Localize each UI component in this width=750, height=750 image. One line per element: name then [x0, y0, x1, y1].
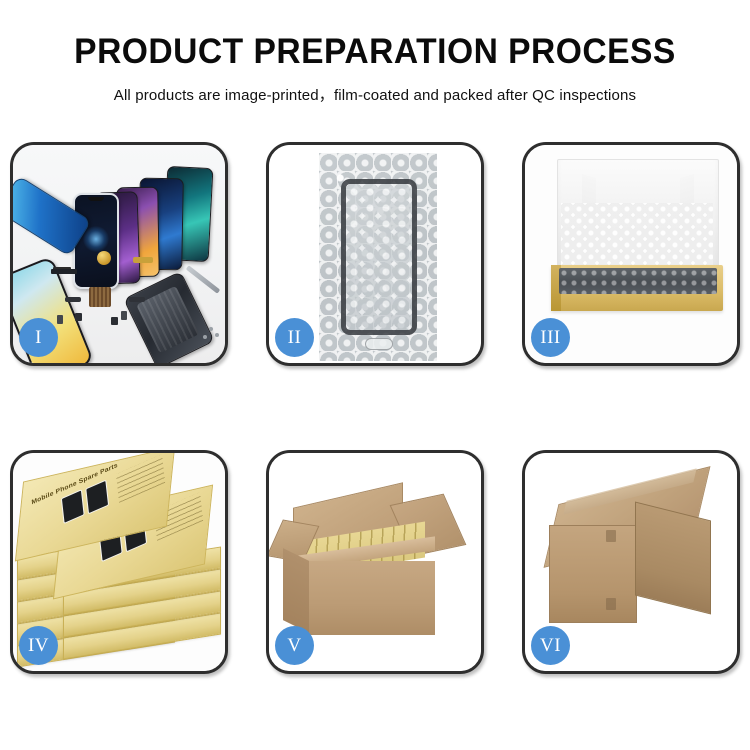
- process-step-3: III: [522, 142, 740, 366]
- process-step-5: V: [266, 450, 484, 674]
- bubble-wrap-sheet: [319, 153, 437, 361]
- part-flex-cable-3-icon: [65, 297, 81, 302]
- packed-screen-product: [559, 268, 717, 294]
- process-step-4: Mobile Phone Spare Parts Mobile Phone Sp…: [10, 450, 228, 674]
- header: PRODUCT PREPARATION PROCESS All products…: [0, 0, 750, 105]
- process-step-6: VI: [522, 450, 740, 674]
- process-step-2: II: [266, 142, 484, 366]
- home-button-icon: [365, 338, 393, 350]
- phone-glass-front-icon: [73, 193, 119, 289]
- yellow-box-tray: [551, 265, 723, 311]
- step-1-badge: I: [19, 318, 58, 357]
- box-art-screen-d: [85, 480, 109, 515]
- wrapped-screen-glass: [341, 179, 417, 335]
- process-step-1: I: [10, 142, 228, 366]
- process-step-grid: I II: [10, 142, 740, 674]
- carton-notch-lower: [606, 598, 616, 610]
- page-title: PRODUCT PREPARATION PROCESS: [15, 34, 735, 69]
- part-chip-icon: [75, 313, 82, 321]
- sealed-carton-side: [635, 502, 711, 615]
- phone-notch-icon: [88, 197, 104, 201]
- part-flex-cable-icon: [133, 257, 153, 263]
- step-4-badge: IV: [19, 626, 58, 665]
- part-screw-icon: [209, 327, 213, 331]
- part-speaker-icon: [121, 311, 127, 320]
- part-flex-cable-2-icon: [129, 297, 145, 302]
- sealed-carton-front: [549, 525, 637, 623]
- step-2-badge: II: [275, 318, 314, 357]
- page-subtitle: All products are image-printed，film-coat…: [4, 83, 747, 105]
- box-spec-list-top: [116, 454, 165, 503]
- step-3-badge: III: [531, 318, 570, 357]
- part-coil-icon: [97, 251, 111, 265]
- carton-left-side: [283, 548, 311, 634]
- foam-padding: [561, 203, 713, 271]
- step-5-badge: V: [275, 626, 314, 665]
- part-screw-3-icon: [203, 335, 207, 339]
- product-preparation-infographic: PRODUCT PREPARATION PROCESS All products…: [0, 0, 750, 750]
- part-chip-grid-icon: [89, 287, 111, 307]
- part-screw-2-icon: [215, 333, 219, 337]
- part-camera-icon: [111, 317, 118, 325]
- box-art-screen-c: [61, 489, 85, 524]
- part-strip-icon: [51, 269, 77, 274]
- carton-notch-upper: [606, 530, 616, 542]
- part-connector-icon: [57, 315, 63, 324]
- step-6-badge: VI: [531, 626, 570, 665]
- phone-opened-backplate-icon: [123, 271, 215, 363]
- carton-front-face: [309, 561, 435, 635]
